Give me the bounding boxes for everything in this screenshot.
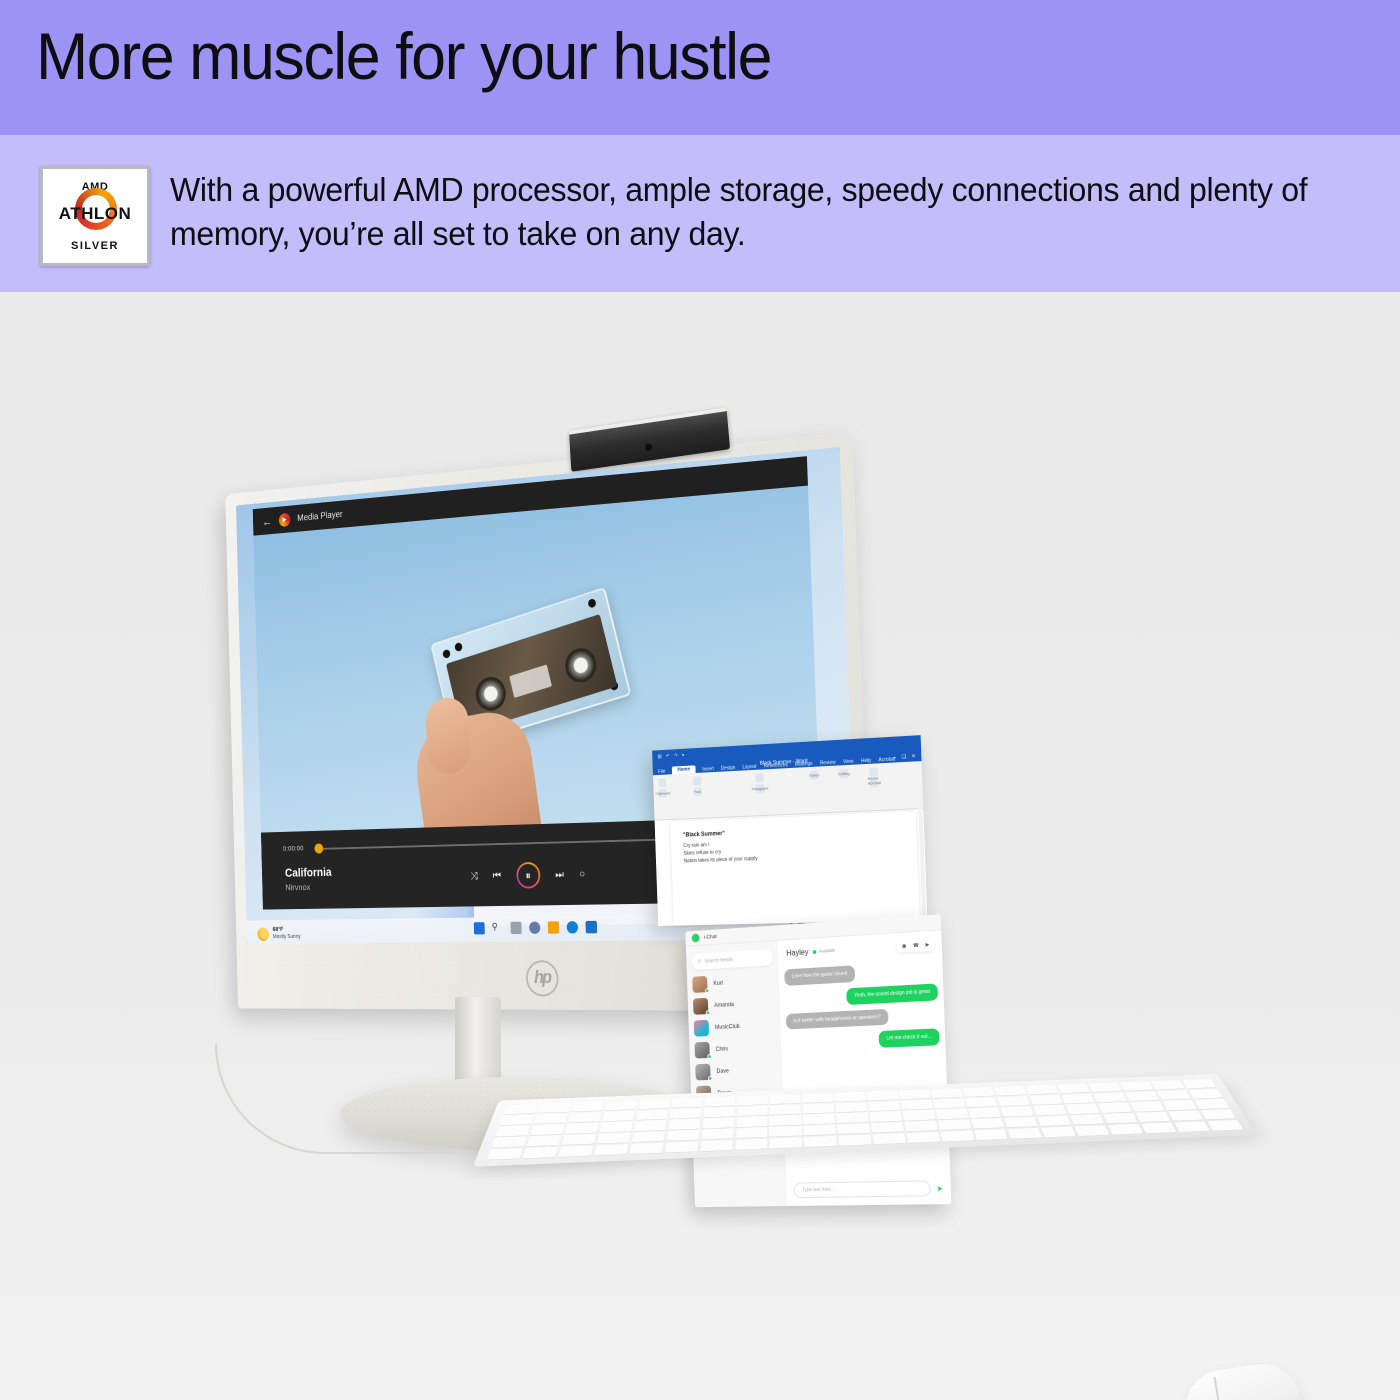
- keyboard-key: [1194, 1099, 1229, 1109]
- keyboard-key: [1093, 1092, 1127, 1102]
- video-call-icon[interactable]: ▶: [926, 942, 930, 948]
- keyboard-key: [1103, 1113, 1138, 1124]
- keyboard-key: [1075, 1125, 1110, 1136]
- keyboard-key: [1207, 1120, 1243, 1131]
- previous-icon[interactable]: ⏮: [493, 870, 502, 882]
- keyboard-key: [665, 1141, 698, 1152]
- chat-app-logo-icon: [692, 933, 700, 942]
- keyboard-key: [1041, 1126, 1076, 1137]
- keyboard-key: [704, 1097, 735, 1107]
- avatar: [694, 1042, 709, 1059]
- artist-name: Nirvnox: [285, 883, 310, 893]
- keyboard-key: [530, 1124, 565, 1135]
- avatar: [693, 998, 708, 1015]
- edge-icon[interactable]: [566, 921, 578, 934]
- search-icon: ⚲: [698, 959, 701, 965]
- task-view-icon[interactable]: [510, 922, 521, 934]
- keyboard-key: [668, 1119, 700, 1130]
- keyboard-key: [701, 1129, 733, 1140]
- word-window[interactable]: ▤ ↶ ↷ ▾ File Home Insert Design Layout R…: [652, 735, 927, 926]
- keyboard-key: [1135, 1112, 1170, 1123]
- status-badge: Available: [813, 948, 835, 954]
- group-editing: Editing: [838, 771, 850, 776]
- keyboard-key: [804, 1136, 836, 1147]
- keyboard-key: [931, 1088, 963, 1098]
- keyboard-key: [940, 1130, 974, 1141]
- keyboard-key: [1098, 1102, 1132, 1112]
- keyboard-key: [599, 1121, 633, 1132]
- keyboard-key: [736, 1116, 767, 1127]
- contact-name: Chris: [716, 1046, 729, 1052]
- keyboard-key: [1066, 1104, 1100, 1114]
- keyboard-key: [871, 1122, 904, 1133]
- keyboard-key: [770, 1094, 800, 1104]
- keyboard-key: [770, 1126, 802, 1137]
- back-icon[interactable]: ←: [262, 514, 272, 528]
- keyboard-key: [666, 1130, 699, 1141]
- keyboard-key: [1130, 1101, 1164, 1111]
- shuffle-icon[interactable]: ⤨: [470, 870, 478, 882]
- screen-share-icon[interactable]: ▣: [902, 943, 907, 949]
- keyboard-key: [838, 1134, 871, 1145]
- customize-icon[interactable]: ▾: [682, 752, 684, 758]
- keyboard-key: [994, 1086, 1026, 1096]
- group-font: Font: [694, 789, 701, 794]
- list-item[interactable]: Dave: [695, 1061, 777, 1081]
- product-scene: Yesterday at 4:24 PM Yesterday at 11:11 …: [0, 292, 1400, 1400]
- weather-condition: Mostly Sunny: [273, 934, 301, 941]
- page-title: More muscle for your hustle: [36, 22, 771, 91]
- keyboard-key: [1061, 1093, 1094, 1103]
- keyboard-key: [938, 1119, 971, 1130]
- keyboard-key: [500, 1115, 535, 1126]
- group-clipboard: Clipboard: [655, 791, 670, 796]
- keyboard-key: [1001, 1106, 1034, 1116]
- keyboard-key: [1141, 1122, 1177, 1133]
- document-page[interactable]: “Black Summer” Cry rain am I Skies refus…: [670, 811, 919, 925]
- keyboard-key: [571, 1102, 604, 1112]
- song-title: California: [285, 865, 332, 880]
- phone-icon[interactable]: ☎: [913, 943, 919, 949]
- keyboard-key: [1162, 1100, 1197, 1110]
- keyboard-key: [1004, 1117, 1038, 1128]
- keyboard-key: [495, 1125, 530, 1136]
- keyboard-key: [835, 1092, 866, 1102]
- store-icon[interactable]: [585, 921, 597, 934]
- list-item[interactable]: Chris: [694, 1039, 776, 1059]
- amd-athlon-silver-badge: AMD ATHLON SILVER: [40, 166, 150, 266]
- keyboard-key: [933, 1098, 965, 1108]
- keyboard-key: [1037, 1116, 1071, 1127]
- keyboard-key: [838, 1123, 870, 1134]
- minimize-icon[interactable]: –: [893, 754, 896, 760]
- word-window-controls[interactable]: – ❑ ✕: [893, 753, 916, 760]
- keyboard-key: [1057, 1084, 1090, 1094]
- keyboard-key: [1120, 1081, 1153, 1091]
- keyboard-key: [671, 1098, 702, 1108]
- document-scrollbar[interactable]: [918, 805, 926, 920]
- message-bubble: Yeah, the sound design job is great: [846, 983, 938, 1004]
- keyboard-key: [737, 1095, 767, 1105]
- message-bubble: Is it better with headphones or speakers…: [786, 1008, 889, 1029]
- keyboard-key: [558, 1145, 593, 1157]
- keyboard-key: [534, 1113, 568, 1124]
- amd-ring-icon: ATHLON: [58, 191, 132, 237]
- search-icon[interactable]: ⚲: [492, 922, 503, 934]
- keyboard-key: [1033, 1105, 1067, 1115]
- keyboard-key: [634, 1120, 667, 1131]
- keyboard-key: [594, 1144, 629, 1155]
- keyboard-key: [522, 1147, 558, 1159]
- start-icon[interactable]: [473, 922, 484, 934]
- search-placeholder: Search friends: [704, 957, 733, 964]
- contacts-sidebar[interactable]: ⚲ Search friends Kurt Amanda MusicClub: [686, 941, 787, 1207]
- list-item[interactable]: Kurt: [692, 972, 774, 993]
- chat-app-title: i-Chat: [704, 934, 717, 941]
- conversation-pane: Hayley Available ▣ ☎ ▶ Love how the guit…: [778, 930, 952, 1206]
- keyboard-key: [974, 1129, 1008, 1140]
- keyboard-key: [903, 1110, 935, 1120]
- keyboard-key: [638, 1099, 670, 1109]
- keyboard-key: [504, 1104, 538, 1114]
- avatar: [692, 976, 707, 993]
- call-actions[interactable]: ▣ ☎ ▶: [897, 939, 934, 953]
- keyboard-key: [491, 1137, 527, 1148]
- power-cable: [215, 1044, 485, 1154]
- keyboard-key: [1188, 1089, 1223, 1099]
- keyboard-key: [836, 1102, 867, 1112]
- keyboard-key: [971, 1118, 1005, 1129]
- wireless-mouse: [1180, 1358, 1305, 1400]
- contact-name: MusicClub: [715, 1024, 740, 1031]
- contact-name: Dave: [716, 1068, 729, 1074]
- progress-knob[interactable]: [314, 843, 323, 853]
- amd-tier-label: SILVER: [71, 240, 119, 252]
- next-icon[interactable]: ⏭: [555, 868, 564, 881]
- keyboard-key: [1157, 1090, 1191, 1100]
- contact-name: Amanda: [714, 1002, 734, 1009]
- media-player-title: Media Player: [297, 509, 343, 523]
- group-acrobat: Adobe Acrobat: [867, 775, 880, 786]
- hp-logo: hp: [525, 960, 558, 996]
- message-bubble: Love how the guitar sound: [784, 965, 855, 985]
- keyboard-key: [487, 1148, 524, 1160]
- repeat-icon[interactable]: ○: [579, 868, 585, 880]
- file-explorer-icon[interactable]: [547, 921, 558, 933]
- list-item[interactable]: MusicClub: [694, 1016, 776, 1036]
- keyboard-key: [1070, 1114, 1104, 1125]
- keyboard-key: [605, 1100, 638, 1110]
- keyboard-key: [935, 1109, 968, 1119]
- save-icon[interactable]: ▤: [657, 753, 661, 759]
- undo-icon[interactable]: ↶: [666, 753, 670, 759]
- keyboard-key: [803, 1093, 833, 1103]
- redo-icon[interactable]: ↷: [674, 752, 678, 758]
- sun-icon: [257, 927, 269, 941]
- keyboard-key: [700, 1140, 733, 1151]
- keyboard-key: [632, 1131, 666, 1142]
- keyboard-key: [636, 1109, 668, 1119]
- weather-widget[interactable]: 68°F Mostly Sunny: [257, 927, 300, 942]
- media-player-logo-icon: ▶: [279, 512, 291, 526]
- keyboard-key: [963, 1087, 995, 1097]
- keyboard-key: [997, 1096, 1030, 1106]
- keyboard-key: [562, 1134, 597, 1145]
- keyboard-key: [1174, 1121, 1210, 1132]
- close-icon[interactable]: ✕: [911, 753, 915, 759]
- keyboard-key: [901, 1100, 933, 1110]
- keyboard-key: [1182, 1079, 1216, 1089]
- contact-name: Kurt: [713, 980, 723, 986]
- keyboard-key: [1108, 1124, 1143, 1135]
- keyboard-key: [837, 1112, 869, 1123]
- message-bubble: Let me check it out...: [879, 1029, 940, 1048]
- group-styles: Styles: [809, 772, 819, 777]
- keyboard-key: [602, 1111, 635, 1121]
- keyboard-key: [899, 1089, 930, 1099]
- keyboard-key: [907, 1132, 940, 1143]
- keyboard-key: [1168, 1110, 1203, 1120]
- subheadline: With a powerful AMD processor, ample sto…: [170, 168, 1344, 256]
- keyboard-key: [703, 1107, 734, 1117]
- keyboard-key: [736, 1127, 768, 1138]
- keyboard-key: [670, 1108, 702, 1118]
- send-icon[interactable]: ➤: [936, 1184, 943, 1193]
- keyboard-key: [629, 1143, 663, 1154]
- avatar: [694, 1020, 709, 1037]
- chat-icon[interactable]: [529, 921, 540, 933]
- keyboard-key: [868, 1101, 900, 1111]
- keyboard-key: [1200, 1109, 1236, 1119]
- keyboard-key: [965, 1097, 997, 1107]
- keyboard-key: [770, 1104, 801, 1114]
- keyboard-key: [803, 1114, 834, 1125]
- amd-athlon-label: ATHLON: [59, 204, 132, 224]
- list-item[interactable]: Amanda: [693, 994, 775, 1015]
- keyboard-key: [803, 1103, 834, 1113]
- active-contact-name: Hayley: [786, 948, 808, 958]
- keyboard-key: [1125, 1091, 1159, 1101]
- keyboard-key: [867, 1091, 898, 1101]
- keyboard-key: [1151, 1080, 1185, 1090]
- play-pause-button[interactable]: ⏸: [516, 862, 540, 889]
- avatar: [695, 1064, 710, 1081]
- keyboard-key: [735, 1138, 767, 1149]
- search-friends-input[interactable]: ⚲ Search friends: [691, 949, 773, 970]
- keyboard-key: [526, 1135, 561, 1146]
- keyboard-key: [873, 1133, 906, 1144]
- keyboard-key: [1026, 1085, 1059, 1095]
- keyboard-key: [870, 1111, 902, 1121]
- keyboard-key: [770, 1115, 801, 1126]
- playback-time: 0:00:00: [283, 844, 304, 853]
- keyboard-key: [565, 1123, 599, 1134]
- keyboard-key: [597, 1133, 631, 1144]
- group-paragraph: Paragraph: [751, 786, 768, 792]
- keyboard-key: [568, 1112, 602, 1123]
- keyboard-key: [737, 1106, 768, 1116]
- keyboard-key: [702, 1118, 734, 1129]
- keyboard-key: [538, 1103, 572, 1113]
- keyboard-key: [905, 1121, 938, 1132]
- message-input[interactable]: Type text here...: [794, 1180, 932, 1198]
- chat-window[interactable]: i-Chat – ❑ ✕ ⚲ Search friends Kurt: [685, 914, 951, 1207]
- maximize-icon[interactable]: ❑: [901, 754, 905, 760]
- keyboard-key: [1008, 1128, 1042, 1139]
- keyboard-key: [770, 1137, 802, 1148]
- keyboard-key: [968, 1107, 1001, 1117]
- keyboard-key: [804, 1125, 836, 1136]
- keyboard-key: [1089, 1082, 1122, 1092]
- keyboard-key: [1030, 1095, 1063, 1105]
